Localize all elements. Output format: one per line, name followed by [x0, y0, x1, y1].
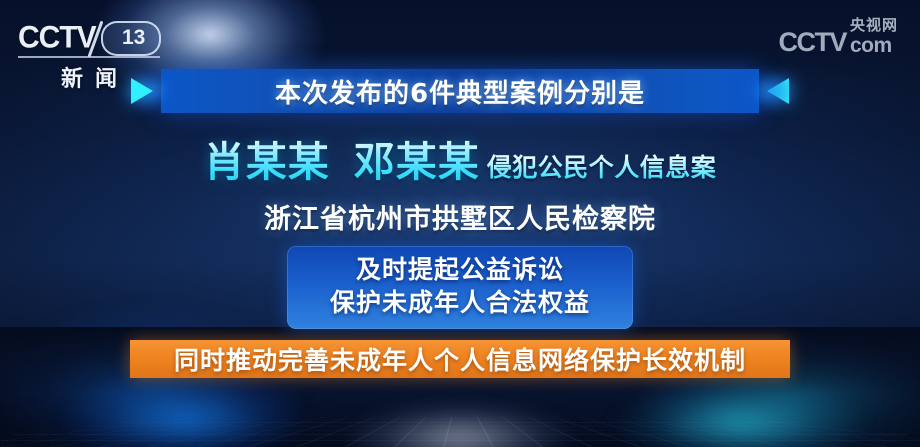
channel-number-badge: 13: [101, 21, 161, 56]
watermark-right: 央视网 com: [850, 18, 898, 56]
defendant-name-2: 邓某某: [354, 128, 480, 188]
watermark-brand: CCTV: [778, 29, 846, 56]
cctv-wordmark: CCTV: [18, 20, 96, 56]
broadcast-screen: CCTV 13 新闻 CCTV 央视网 com 本次发布的6件典型案例分别是 肖…: [0, 0, 920, 447]
blue-callout-line-2: 保护未成年人合法权益: [287, 286, 633, 319]
defendant-name-1: 肖某某: [204, 128, 330, 188]
blue-callout-box: 及时提起公益诉讼 保护未成年人合法权益: [287, 246, 633, 329]
headline-text: 本次发布的6件典型案例分别是: [275, 73, 645, 110]
channel-sub-label: 新闻: [18, 61, 160, 93]
case-title-line: 肖某某 邓某某 侵犯公民个人信息案: [0, 128, 920, 186]
watermark-site-cn: 央视网: [850, 18, 898, 34]
orange-callout-text: 同时推动完善未成年人个人信息网络保护长效机制: [174, 341, 746, 377]
orange-callout-band: 同时推动完善未成年人个人信息网络保护长效机制: [130, 340, 790, 378]
channel-number: 13: [122, 26, 145, 50]
floor-white-glow: [310, 383, 610, 447]
right-arrow-glow: [733, 61, 803, 121]
blue-callout-line-1: 及时提起公益诉讼: [287, 253, 633, 286]
watermark-cctv-com: CCTV 央视网 com: [778, 18, 898, 56]
channel-logo-cctv13: CCTV 13 新闻: [18, 22, 168, 86]
prosecuting-authority: 浙江省杭州市拱墅区人民检察院: [0, 197, 920, 236]
headline-band: 本次发布的6件典型案例分别是: [161, 69, 759, 113]
watermark-site-tld: com: [850, 35, 892, 56]
channel-logo-row: CCTV 13: [18, 22, 168, 54]
case-charge: 侵犯公民个人信息案: [487, 148, 717, 184]
